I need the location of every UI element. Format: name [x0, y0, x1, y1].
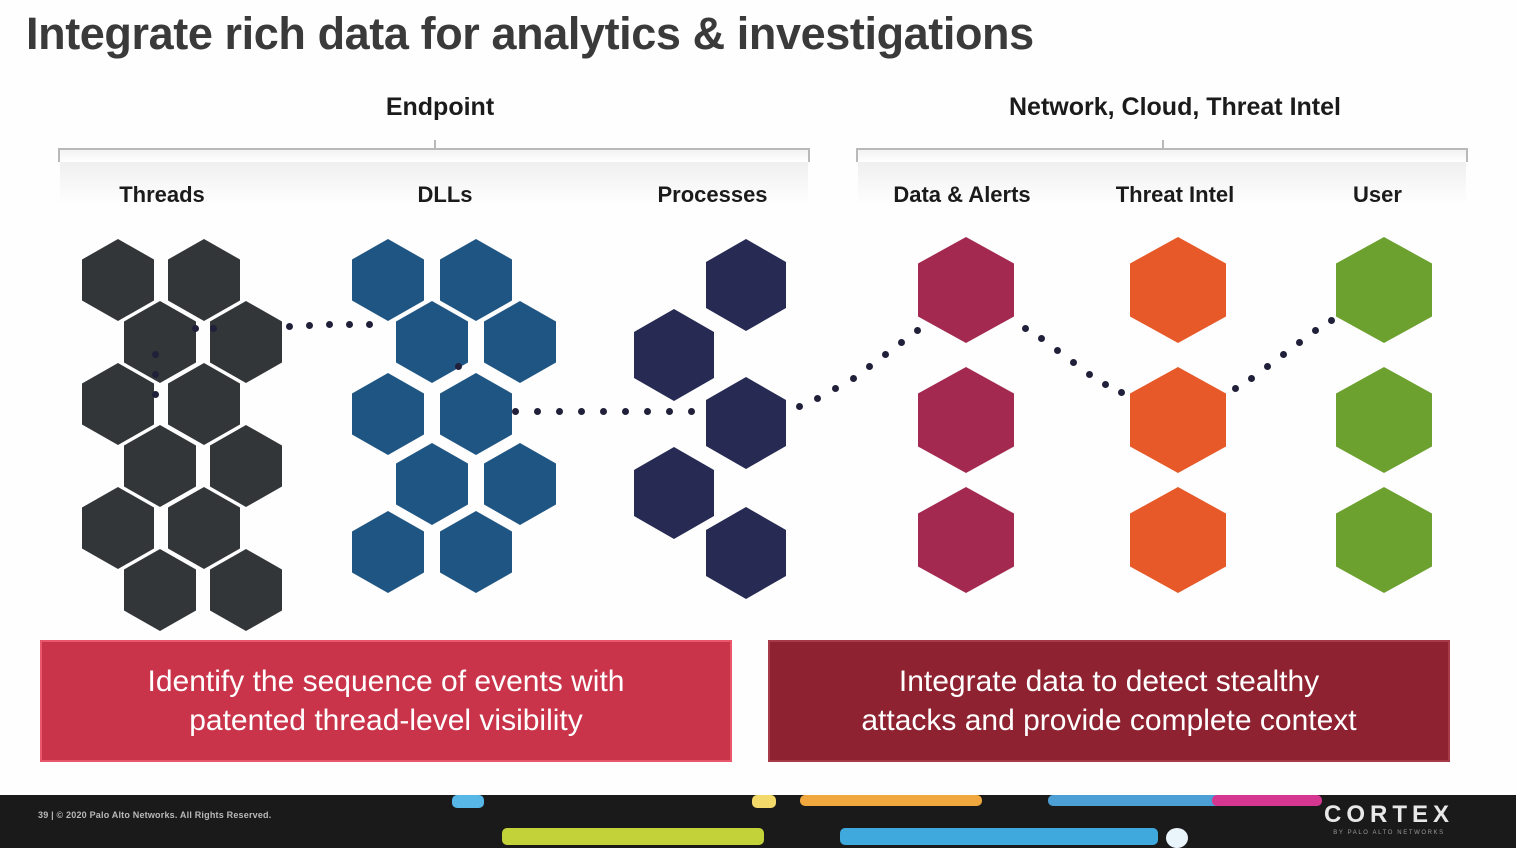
hexagon-processes	[634, 309, 714, 401]
cortex-logo: CORTEX BY PALO ALTO NETWORKS	[1324, 803, 1454, 836]
hexagon-dlls	[484, 301, 556, 383]
footer-strip-bar	[502, 828, 764, 845]
callout-left-line2: patented thread-level visibility	[148, 701, 625, 740]
hexagon-dlls	[352, 239, 424, 321]
connector-dot	[512, 408, 519, 415]
hexagon-user	[1336, 367, 1432, 473]
footer-strip-dot	[1166, 828, 1188, 848]
connector-dot	[1102, 381, 1109, 388]
column-label-threads: Threads	[62, 182, 262, 208]
connector-dot	[1264, 363, 1271, 370]
bracket-endpoint	[58, 148, 810, 162]
column-label-threat-intel: Threat Intel	[1075, 182, 1275, 208]
hexagon-dlls	[352, 511, 424, 593]
hexagon-user	[1336, 237, 1432, 343]
hexagon-threads	[210, 549, 282, 631]
connector-dot	[1038, 335, 1045, 342]
hexagon-dlls	[352, 373, 424, 455]
connector-dot	[1280, 351, 1287, 358]
connector-dot	[455, 363, 462, 370]
hexagon-threads	[124, 549, 196, 631]
connector-dot	[1296, 339, 1303, 346]
footer-strip-bar	[1212, 795, 1322, 806]
connector-dot	[1248, 375, 1255, 382]
hexagon-threads	[82, 363, 154, 445]
connector-dot	[192, 325, 199, 332]
connector-dot	[882, 351, 889, 358]
callout-banner-right: Integrate data to detect stealthy attack…	[768, 640, 1450, 762]
bracket-network	[856, 148, 1468, 162]
connector-dot	[152, 391, 159, 398]
connector-dot	[796, 403, 803, 410]
footer-strip-bar	[840, 828, 1158, 845]
connector-dot	[688, 408, 695, 415]
connector-dot	[644, 408, 651, 415]
hexagon-user	[1336, 487, 1432, 593]
connector-dot	[622, 408, 629, 415]
connector-dot	[578, 408, 585, 415]
footer-strip-bar	[800, 795, 982, 806]
connector-dot	[600, 408, 607, 415]
hexagon-threads	[124, 301, 196, 383]
callout-banner-left: Identify the sequence of events with pat…	[40, 640, 732, 762]
connector-dot	[1070, 359, 1077, 366]
connector-dot	[1118, 389, 1125, 396]
hexagon-diagram	[0, 225, 1516, 605]
cortex-logo-word: CORTEX	[1324, 803, 1454, 827]
hexagon-dlls	[440, 239, 512, 321]
footer-strip-bar	[452, 795, 484, 808]
hexagon-dlls	[484, 443, 556, 525]
hexagon-threads	[210, 301, 282, 383]
hexagon-threads	[168, 363, 240, 445]
column-label-processes: Processes	[615, 182, 810, 208]
connector-dot	[814, 395, 821, 402]
hexagon-threads	[168, 239, 240, 321]
connector-dot	[850, 375, 857, 382]
hexagon-data-alerts	[918, 367, 1014, 473]
hexagon-threads	[124, 425, 196, 507]
hexagon-processes	[634, 447, 714, 539]
hexagon-threads	[210, 425, 282, 507]
connector-dot	[556, 408, 563, 415]
connector-dot	[152, 371, 159, 378]
group-heading-network: Network, Cloud, Threat Intel	[975, 93, 1375, 122]
connector-dot	[286, 323, 293, 330]
hexagon-data-alerts	[918, 487, 1014, 593]
connector-dot	[1232, 385, 1239, 392]
connector-dot	[1086, 371, 1093, 378]
footer-copyright: 39 | © 2020 Palo Alto Networks. All Righ…	[38, 810, 271, 820]
hexagon-processes	[706, 507, 786, 599]
hexagon-threads	[168, 487, 240, 569]
connector-dot	[1328, 317, 1335, 324]
hexagon-threat-intel	[1130, 237, 1226, 343]
connector-dot	[534, 408, 541, 415]
connector-dot	[152, 351, 159, 358]
connector-dot	[1022, 325, 1029, 332]
hexagon-dlls	[440, 373, 512, 455]
hexagon-processes	[706, 377, 786, 469]
hexagon-threat-intel	[1130, 487, 1226, 593]
group-heading-endpoint: Endpoint	[250, 93, 630, 122]
hexagon-dlls	[396, 443, 468, 525]
callout-right-line2: attacks and provide complete context	[861, 701, 1356, 740]
slide-canvas: Integrate rich data for analytics & inve…	[0, 0, 1516, 848]
connector-dot	[306, 322, 313, 329]
column-label-user: User	[1290, 182, 1465, 208]
callout-right-line1: Integrate data to detect stealthy	[861, 662, 1356, 701]
column-label-dlls: DLLs	[350, 182, 540, 208]
connector-dot	[1312, 327, 1319, 334]
hexagon-dlls	[440, 511, 512, 593]
connector-dot	[914, 327, 921, 334]
column-label-data-alerts: Data & Alerts	[862, 182, 1062, 208]
connector-dot	[898, 339, 905, 346]
hexagon-threads	[82, 487, 154, 569]
hexagon-processes	[706, 239, 786, 331]
footer-strip-bar	[752, 795, 776, 808]
hexagon-threads	[82, 239, 154, 321]
page-title: Integrate rich data for analytics & inve…	[26, 8, 1226, 60]
callout-left-line1: Identify the sequence of events with	[148, 662, 625, 701]
slide-footer: 39 | © 2020 Palo Alto Networks. All Righ…	[0, 795, 1516, 848]
hexagon-data-alerts	[918, 237, 1014, 343]
cortex-logo-tagline: BY PALO ALTO NETWORKS	[1324, 830, 1454, 836]
connector-dot	[210, 325, 217, 332]
connector-dot	[1054, 347, 1061, 354]
connector-dot	[366, 321, 373, 328]
hexagon-threat-intel	[1130, 367, 1226, 473]
connector-dot	[326, 321, 333, 328]
hexagon-dlls	[396, 301, 468, 383]
connector-dot	[832, 385, 839, 392]
connector-dot	[866, 363, 873, 370]
connector-dot	[346, 321, 353, 328]
connector-dot	[666, 408, 673, 415]
